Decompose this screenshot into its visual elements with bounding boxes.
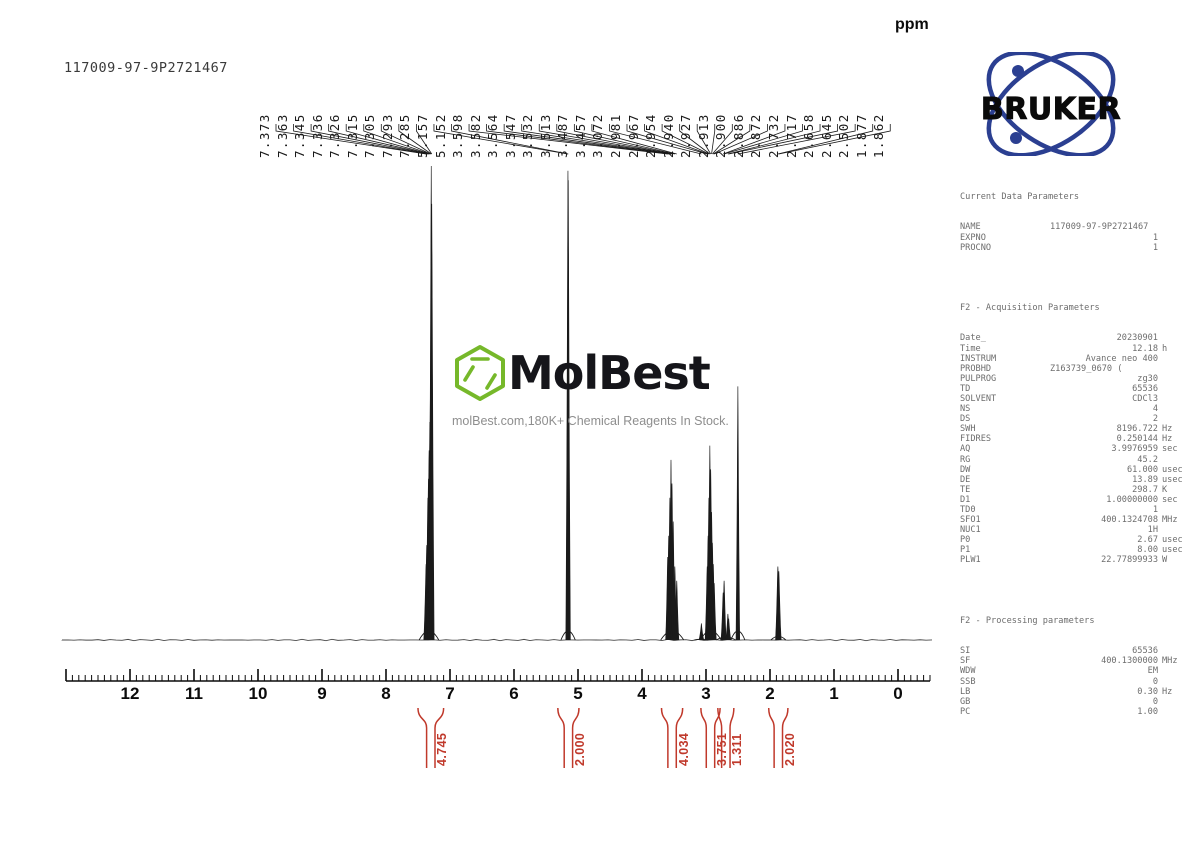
param-row: SF400.1300000MHz xyxy=(960,656,1190,666)
param-row: TE298.7K xyxy=(960,485,1190,495)
param-key: P0 xyxy=(960,535,1034,545)
param-row: SFO1400.1324708MHz xyxy=(960,515,1190,525)
param-unit: usec xyxy=(1158,545,1190,555)
param-unit: W xyxy=(1158,555,1190,565)
param-unit xyxy=(1158,243,1190,253)
param-key: Time xyxy=(960,344,1034,354)
integral-value: 4.034 xyxy=(677,733,691,766)
param-value: 0 xyxy=(1034,677,1158,687)
param-row: DE13.89usec xyxy=(960,475,1190,485)
param-key: EXPNO xyxy=(960,233,1034,243)
bruker-logo: BRUKER xyxy=(958,52,1144,156)
param-key: SF xyxy=(960,656,1034,666)
param-key: WDW xyxy=(960,666,1034,676)
param-key: TD xyxy=(960,384,1034,394)
param-value: 20230901 xyxy=(1034,333,1158,343)
param-value: Avance neo 400 xyxy=(1034,354,1158,364)
param-row: DS2 xyxy=(960,414,1190,424)
param-section-acquisition: Date_20230901Time12.18hINSTRUMAvance neo… xyxy=(960,333,1190,565)
param-row: D11.00000000sec xyxy=(960,495,1190,505)
param-unit xyxy=(1158,646,1190,656)
integral-value: 2.020 xyxy=(783,733,797,766)
param-row: P18.00usec xyxy=(960,545,1190,555)
param-row: PLW122.77899933W xyxy=(960,555,1190,565)
param-unit xyxy=(1158,354,1190,364)
param-key: SSB xyxy=(960,677,1034,687)
param-key: AQ xyxy=(960,444,1034,454)
integral-value: 2.000 xyxy=(573,733,587,766)
param-value: 0 xyxy=(1034,697,1158,707)
param-key: SWH xyxy=(960,424,1034,434)
param-unit xyxy=(1158,333,1190,343)
axis-tick-label: 11 xyxy=(185,684,203,704)
param-unit: Hz xyxy=(1158,687,1190,697)
param-unit: K xyxy=(1158,485,1190,495)
param-unit xyxy=(1158,364,1190,374)
param-row: INSTRUMAvance neo 400 xyxy=(960,354,1190,364)
param-key: SI xyxy=(960,646,1034,656)
param-value: 1 xyxy=(1034,505,1158,515)
param-unit xyxy=(1158,707,1190,717)
param-unit xyxy=(1158,525,1190,535)
param-row: NUC11H xyxy=(960,525,1190,535)
axis-tick-label: 12 xyxy=(121,684,140,704)
param-value: 117009-97-9P2721467 xyxy=(1034,222,1158,232)
param-value: 65536 xyxy=(1034,646,1158,656)
param-row: SSB0 xyxy=(960,677,1190,687)
param-value: 1.00 xyxy=(1034,707,1158,717)
param-value: EM xyxy=(1034,666,1158,676)
param-row: PROBHDZ163739_0670 ( xyxy=(960,364,1190,374)
param-key: LB xyxy=(960,687,1034,697)
param-value: 1H xyxy=(1034,525,1158,535)
param-unit: Hz xyxy=(1158,424,1190,434)
param-value: Z163739_0670 ( xyxy=(1034,364,1158,374)
param-value: 0.250144 xyxy=(1034,434,1158,444)
param-key: PROCNO xyxy=(960,243,1034,253)
param-row: DW61.000usec xyxy=(960,465,1190,475)
param-unit xyxy=(1158,455,1190,465)
param-row: LB0.30Hz xyxy=(960,687,1190,697)
integral-value: 4.745 xyxy=(435,733,449,766)
param-row: SOLVENTCDCl3 xyxy=(960,394,1190,404)
param-row: TD01 xyxy=(960,505,1190,515)
param-value: 2.67 xyxy=(1034,535,1158,545)
param-key: PULPROG xyxy=(960,374,1034,384)
axis-tick-label: 2 xyxy=(765,684,774,704)
param-unit xyxy=(1158,697,1190,707)
param-value: 12.18 xyxy=(1034,344,1158,354)
param-section-title-acquisition: F2 - Acquisition Parameters xyxy=(960,303,1190,313)
param-key: DE xyxy=(960,475,1034,485)
param-unit: h xyxy=(1158,344,1190,354)
param-row: NAME117009-97-9P2721467 xyxy=(960,222,1190,232)
param-row: Time12.18h xyxy=(960,344,1190,354)
param-unit xyxy=(1158,394,1190,404)
param-value: 45.2 xyxy=(1034,455,1158,465)
param-row: RG45.2 xyxy=(960,455,1190,465)
param-value: 65536 xyxy=(1034,384,1158,394)
spectrum-baseline xyxy=(62,639,932,640)
param-key: Date_ xyxy=(960,333,1034,343)
param-unit: Hz xyxy=(1158,434,1190,444)
param-value: 3.9976959 xyxy=(1034,444,1158,454)
param-row: EXPNO1 xyxy=(960,233,1190,243)
axis-tick-label: 1 xyxy=(829,684,838,704)
param-key: NS xyxy=(960,404,1034,414)
param-value: 4 xyxy=(1034,404,1158,414)
param-row: PC1.00 xyxy=(960,707,1190,717)
axis-tick-label: 8 xyxy=(381,684,390,704)
spectrum-trace xyxy=(62,166,932,641)
param-value: zg30 xyxy=(1034,374,1158,384)
param-value: 0.30 xyxy=(1034,687,1158,697)
axis-tick-label: 10 xyxy=(249,684,268,704)
param-value: 1.00000000 xyxy=(1034,495,1158,505)
param-unit xyxy=(1158,404,1190,414)
param-value: CDCl3 xyxy=(1034,394,1158,404)
param-unit xyxy=(1158,222,1190,232)
param-key: RG xyxy=(960,455,1034,465)
param-row: Date_20230901 xyxy=(960,333,1190,343)
axis-tick-label: 5 xyxy=(573,684,582,704)
axis-tick-label: 3 xyxy=(701,684,710,704)
param-unit: usec xyxy=(1158,465,1190,475)
axis-tick-label: 6 xyxy=(509,684,518,704)
spectrum-peak xyxy=(736,386,740,640)
axis-tick-label: 0 xyxy=(893,684,902,704)
param-value: 298.7 xyxy=(1034,485,1158,495)
param-key: D1 xyxy=(960,495,1034,505)
param-key: INSTRUM xyxy=(960,354,1034,364)
param-unit xyxy=(1158,505,1190,515)
param-value: 1 xyxy=(1034,243,1158,253)
param-key: PLW1 xyxy=(960,555,1034,565)
param-unit: sec xyxy=(1158,444,1190,454)
param-value: 400.1300000 xyxy=(1034,656,1158,666)
axis-tick-label: 4 xyxy=(637,684,646,704)
param-key: GB xyxy=(960,697,1034,707)
bruker-wordmark: BRUKER xyxy=(958,92,1144,127)
param-value: 400.1324708 xyxy=(1034,515,1158,525)
param-unit xyxy=(1158,233,1190,243)
param-row: TD65536 xyxy=(960,384,1190,394)
param-row: SI65536 xyxy=(960,646,1190,656)
param-row: FIDRES0.250144Hz xyxy=(960,434,1190,444)
param-key: FIDRES xyxy=(960,434,1034,444)
param-value: 2 xyxy=(1034,414,1158,424)
axis-tick-label: 7 xyxy=(445,684,454,704)
param-unit: sec xyxy=(1158,495,1190,505)
param-value: 8196.722 xyxy=(1034,424,1158,434)
param-key: SFO1 xyxy=(960,515,1034,525)
param-unit xyxy=(1158,374,1190,384)
param-unit xyxy=(1158,677,1190,687)
axis-unit-label: ppm xyxy=(895,16,929,34)
param-value: 1 xyxy=(1034,233,1158,243)
param-key: TD0 xyxy=(960,505,1034,515)
param-unit xyxy=(1158,666,1190,676)
param-row: PROCNO1 xyxy=(960,243,1190,253)
param-row: SWH8196.722Hz xyxy=(960,424,1190,434)
param-value: 13.89 xyxy=(1034,475,1158,485)
integral-value: 3.751 xyxy=(715,733,729,766)
param-key: P1 xyxy=(960,545,1034,555)
param-key: DW xyxy=(960,465,1034,475)
param-row: GB0 xyxy=(960,697,1190,707)
param-section-title-current: Current Data Parameters xyxy=(960,192,1190,202)
param-section-current: NAME117009-97-9P2721467EXPNO1PROCNO1 xyxy=(960,222,1190,252)
param-row: WDWEM xyxy=(960,666,1190,676)
param-row: P02.67usec xyxy=(960,535,1190,545)
param-key: NAME xyxy=(960,222,1034,232)
param-section-title-processing: F2 - Processing parameters xyxy=(960,616,1190,626)
axis-tick-label: 9 xyxy=(317,684,326,704)
param-key: DS xyxy=(960,414,1034,424)
acquisition-parameter-panel: Current Data Parameters NAME117009-97-9P… xyxy=(960,172,1190,727)
param-key: PC xyxy=(960,707,1034,717)
param-row: AQ3.9976959sec xyxy=(960,444,1190,454)
param-unit xyxy=(1158,384,1190,394)
param-value: 22.77899933 xyxy=(1034,555,1158,565)
param-key: TE xyxy=(960,485,1034,495)
param-key: PROBHD xyxy=(960,364,1034,374)
param-section-processing: SI65536SF400.1300000MHzWDWEMSSB0LB0.30Hz… xyxy=(960,646,1190,717)
param-unit: MHz xyxy=(1158,656,1190,666)
param-unit: usec xyxy=(1158,535,1190,545)
param-unit: MHz xyxy=(1158,515,1190,525)
param-row: PULPROGzg30 xyxy=(960,374,1190,384)
param-key: NUC1 xyxy=(960,525,1034,535)
integral-value: 1.311 xyxy=(730,733,744,766)
param-unit xyxy=(1158,414,1190,424)
param-unit: usec xyxy=(1158,475,1190,485)
param-value: 8.00 xyxy=(1034,545,1158,555)
param-row: NS4 xyxy=(960,404,1190,414)
param-value: 61.000 xyxy=(1034,465,1158,475)
param-key: SOLVENT xyxy=(960,394,1034,404)
